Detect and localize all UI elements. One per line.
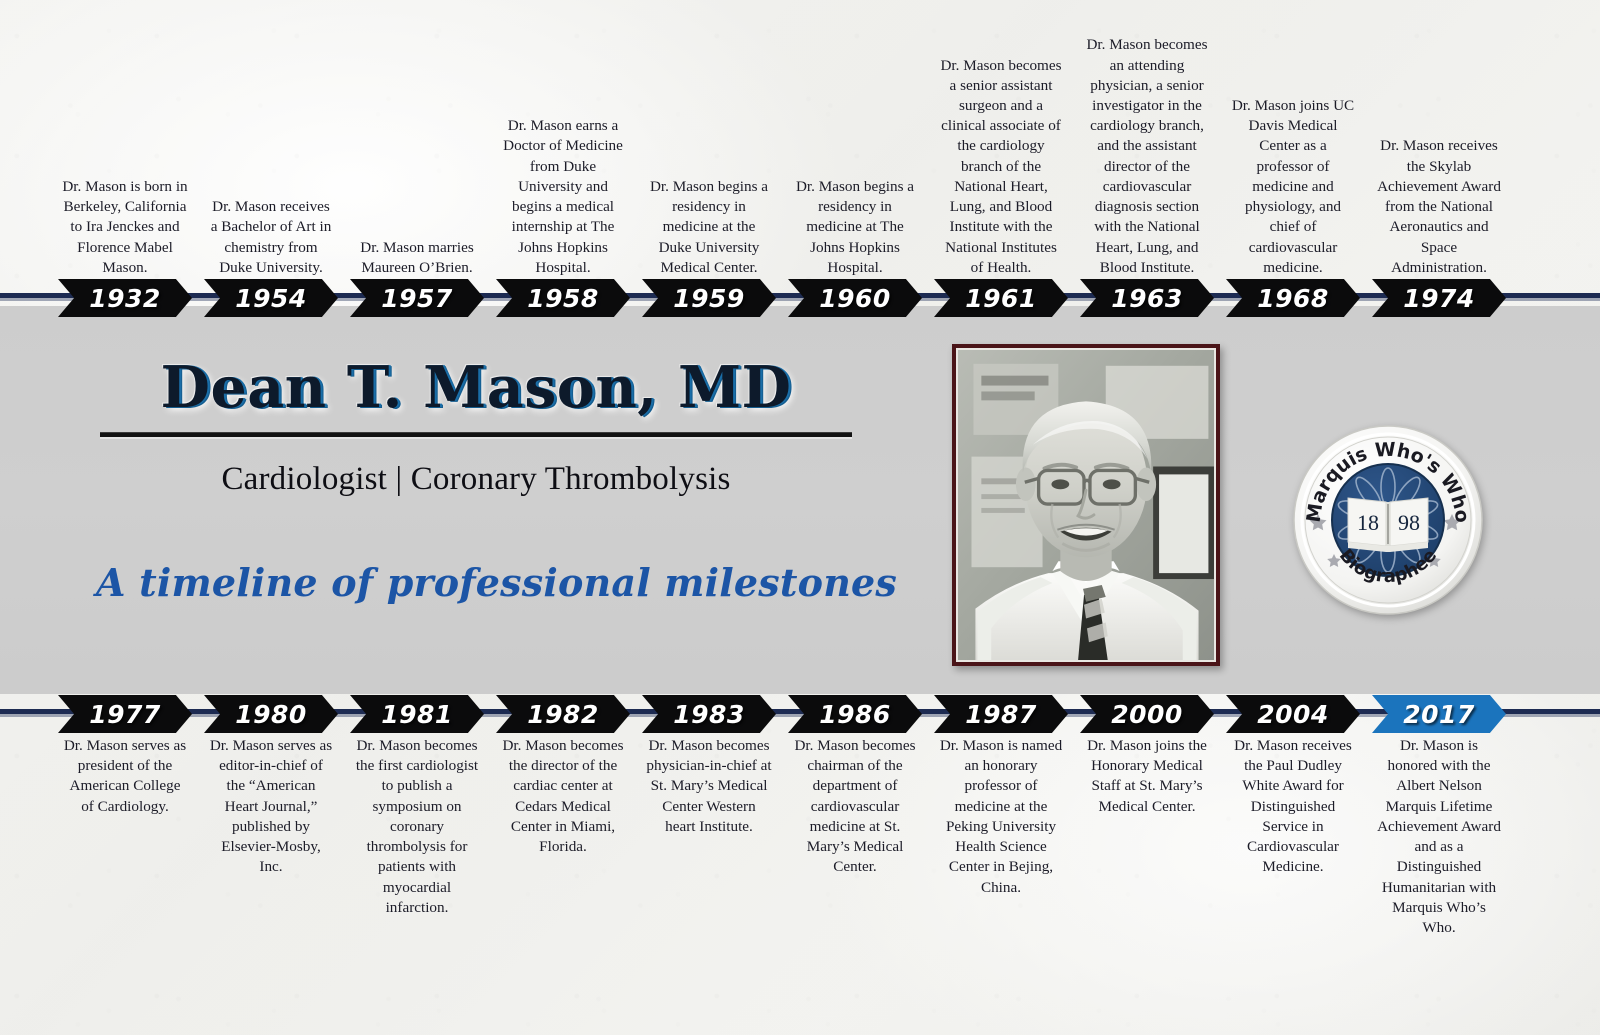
year-marker-2017[interactable]: 2017 <box>1372 695 1506 733</box>
event-text-1968: Dr. Mason joins UC Davis Medical Center … <box>1226 96 1360 278</box>
event-text-2004: Dr. Mason receives the Paul Dudley White… <box>1226 736 1360 878</box>
year-marker-1977[interactable]: 1977 <box>58 695 192 733</box>
title-block: Dean T. Mason, MD Cardiologist | Coronar… <box>96 358 856 605</box>
portrait-frame <box>952 344 1220 666</box>
event-text-1987: Dr. Mason is named an honorary professor… <box>934 736 1068 898</box>
year-marker-1963[interactable]: 1963 <box>1080 279 1214 317</box>
title-divider <box>100 432 852 437</box>
year-marker-1982[interactable]: 1982 <box>496 695 630 733</box>
event-text-1958: Dr. Mason earns a Doctor of Medicine fro… <box>496 116 630 278</box>
year-marker-1968[interactable]: 1968 <box>1226 279 1360 317</box>
year-marker-1981[interactable]: 1981 <box>350 695 484 733</box>
year-marker-1959[interactable]: 1959 <box>642 279 776 317</box>
year-marker-1961[interactable]: 1961 <box>934 279 1068 317</box>
marquis-seal-graphic: 18 98 Marquis Who's Who Biographee <box>1292 424 1484 616</box>
year-marker-1958[interactable]: 1958 <box>496 279 630 317</box>
year-marker-2000[interactable]: 2000 <box>1080 695 1214 733</box>
year-markers-bottom: 1977198019811982198319861987200020042017 <box>0 695 1600 735</box>
event-text-1974: Dr. Mason receives the Skylab Achievemen… <box>1372 136 1506 278</box>
year-marker-1960[interactable]: 1960 <box>788 279 922 317</box>
event-text-1960: Dr. Mason begins a residency in medicine… <box>788 177 922 278</box>
marquis-seal: 18 98 Marquis Who's Who Biographee <box>1292 424 1484 616</box>
year-marker-2004[interactable]: 2004 <box>1226 695 1360 733</box>
year-marker-1957[interactable]: 1957 <box>350 279 484 317</box>
year-markers-top: 1932195419571958195919601961196319681974 <box>0 279 1600 319</box>
year-marker-1986[interactable]: 1986 <box>788 695 922 733</box>
events-row-bottom: Dr. Mason serves as president of the Ame… <box>0 736 1600 1016</box>
seal-year-right: 98 <box>1398 510 1420 535</box>
tagline: A timeline of professional milestones <box>96 560 856 605</box>
event-text-1986: Dr. Mason becomes chairman of the depart… <box>788 736 922 878</box>
event-text-1954: Dr. Mason receives a Bachelor of Art in … <box>204 197 338 278</box>
event-text-1983: Dr. Mason becomes physician-in-chief at … <box>642 736 776 837</box>
year-marker-1980[interactable]: 1980 <box>204 695 338 733</box>
event-text-1963: Dr. Mason becomes an attending physician… <box>1080 35 1214 278</box>
event-text-2017: Dr. Mason is honored with the Albert Nel… <box>1372 736 1506 938</box>
event-text-1961: Dr. Mason becomes a senior assistant sur… <box>934 56 1068 278</box>
row-spacer <box>0 695 58 735</box>
year-marker-1983[interactable]: 1983 <box>642 695 776 733</box>
event-text-1957: Dr. Mason marries Maureen O’Brien. <box>350 238 484 278</box>
event-text-2000: Dr. Mason joins the Honorary Medical Sta… <box>1080 736 1214 817</box>
page-title: Dean T. Mason, MD <box>96 358 856 418</box>
event-text-1959: Dr. Mason begins a residency in medicine… <box>642 177 776 278</box>
year-marker-1954[interactable]: 1954 <box>204 279 338 317</box>
event-text-1932: Dr. Mason is born in Berkeley, Californi… <box>58 177 192 278</box>
year-marker-1974[interactable]: 1974 <box>1372 279 1506 317</box>
event-text-1977: Dr. Mason serves as president of the Ame… <box>58 736 192 817</box>
portrait-illustration <box>958 350 1214 660</box>
events-row-top: Dr. Mason is born in Berkeley, Californi… <box>0 28 1600 278</box>
year-marker-1987[interactable]: 1987 <box>934 695 1068 733</box>
specialty-subtitle: Cardiologist | Coronary Thrombolysis <box>96 461 856 498</box>
event-text-1981: Dr. Mason becomes the first cardiologist… <box>350 736 484 918</box>
year-marker-1932[interactable]: 1932 <box>58 279 192 317</box>
event-text-1982: Dr. Mason becomes the director of the ca… <box>496 736 630 857</box>
portrait-photo <box>956 348 1216 662</box>
seal-year-left: 18 <box>1357 510 1379 535</box>
row-spacer <box>0 279 58 319</box>
event-text-1980: Dr. Mason serves as editor-in-chief of t… <box>204 736 338 878</box>
timeline-poster: Dr. Mason is born in Berkeley, Californi… <box>0 0 1600 1035</box>
